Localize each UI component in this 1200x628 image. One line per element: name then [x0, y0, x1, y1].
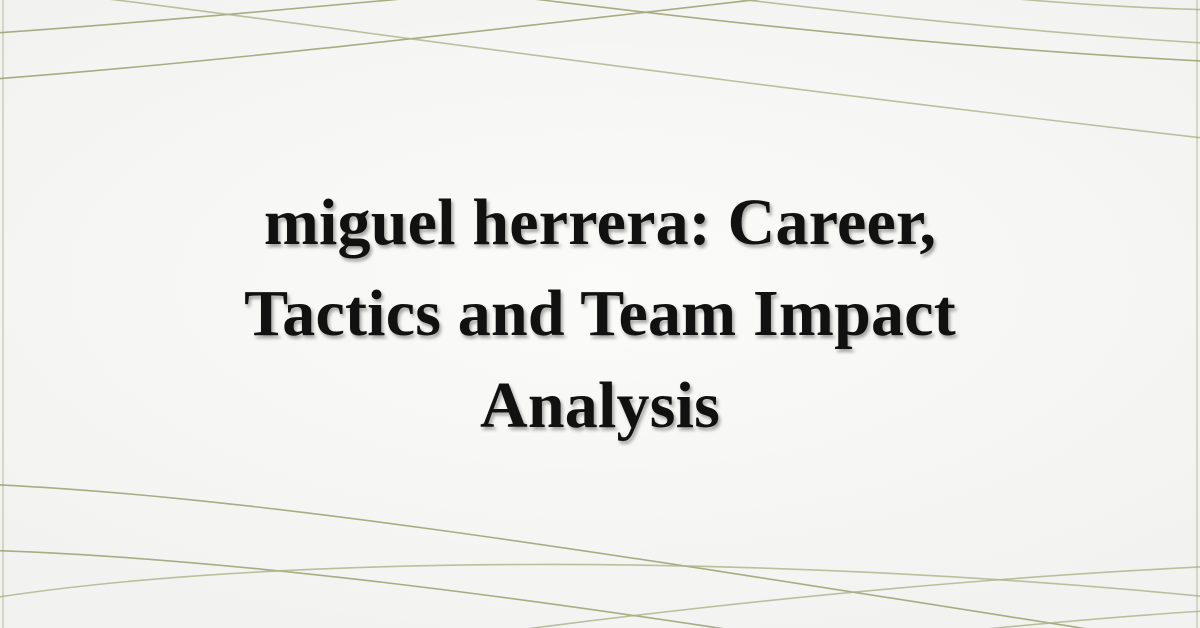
page-title: miguel herrera: Career, Tactics and Team… — [200, 177, 1000, 450]
og-banner: miguel herrera: Career, Tactics and Team… — [0, 0, 1200, 628]
title-block: miguel herrera: Career, Tactics and Team… — [0, 0, 1200, 628]
